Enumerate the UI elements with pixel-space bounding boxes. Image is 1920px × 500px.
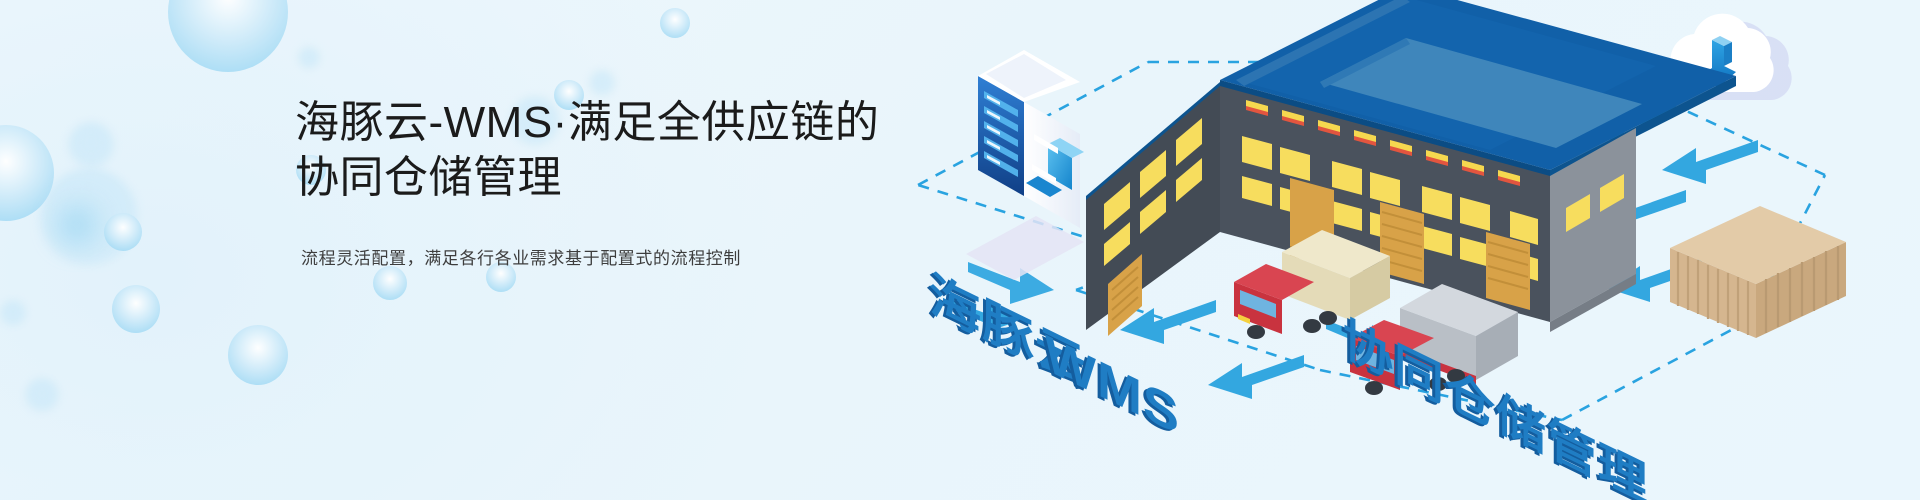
bubble-0 xyxy=(168,0,288,72)
bubble-9 xyxy=(298,47,320,69)
bubble-4 xyxy=(48,196,106,254)
page-subtitle: 流程灵活配置，满足各行各业需求基于配置式的流程控制 xyxy=(301,244,935,269)
server-rack-icon xyxy=(966,50,1084,280)
bubble-6 xyxy=(112,285,160,333)
hero-banner: 海豚云-WMS·满足全供应链的 协同仓储管理 流程灵活配置，满足各行各业需求基于… xyxy=(0,0,1920,500)
shipping-container-icon xyxy=(1670,206,1846,338)
bubble-10 xyxy=(373,266,407,300)
page-title: 海豚云-WMS·满足全供应链的 协同仓储管理 xyxy=(295,95,935,206)
bubble-14 xyxy=(589,70,615,96)
bubble-7 xyxy=(228,325,288,385)
bubble-15 xyxy=(660,8,690,38)
warehouse-illustration: 海豚云 海豚云 WMS WMS 协同仓储管理 协同仓储管理 xyxy=(890,0,1920,500)
hero-text-block: 海豚云-WMS·满足全供应链的 协同仓储管理 流程灵活配置，满足各行各业需求基于… xyxy=(295,95,935,269)
bubble-2 xyxy=(68,122,114,168)
bubble-17 xyxy=(0,300,26,326)
bubble-16 xyxy=(25,378,59,412)
bubble-5 xyxy=(104,213,142,251)
